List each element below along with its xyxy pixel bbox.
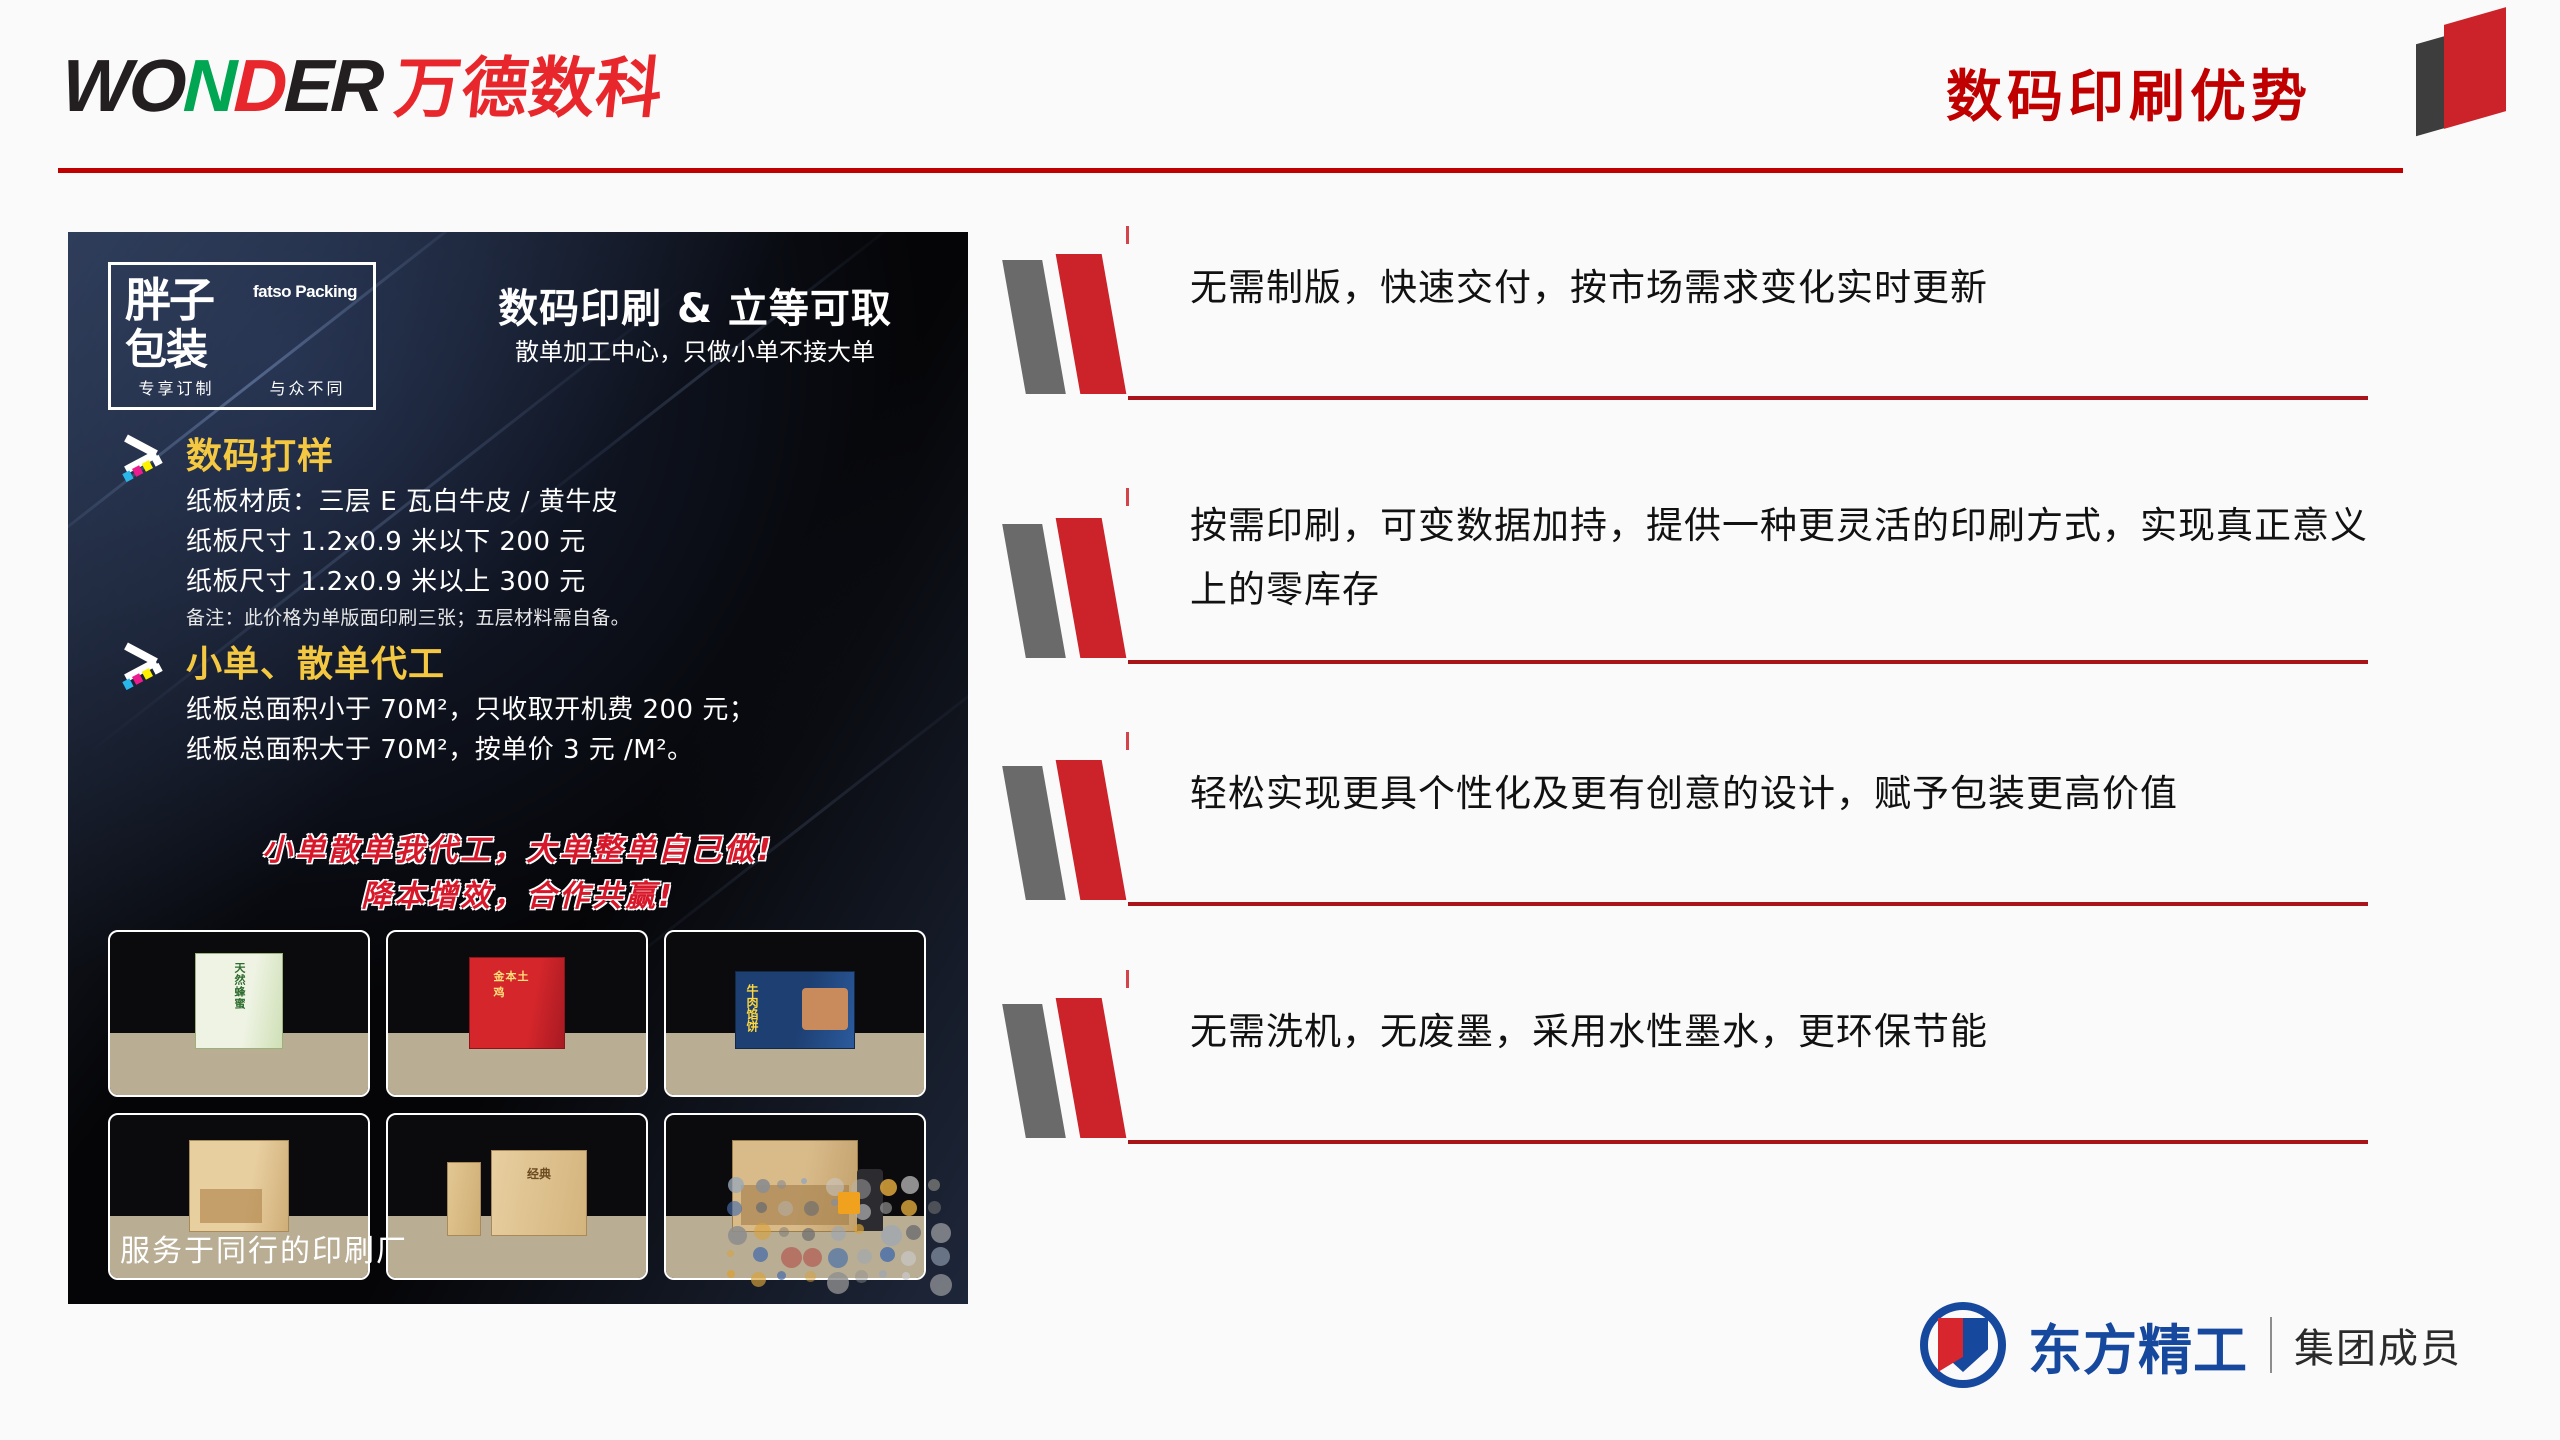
section-header: 小单、散单代工 (120, 636, 940, 686)
bullet-red-bar (1056, 254, 1127, 394)
poster-headline: 数码印刷 & 立等可取 (460, 276, 930, 334)
company-name: 东方精工 (2028, 1306, 2248, 1385)
advantage-underline (1128, 396, 2368, 400)
product-photo-beef-dumpling-carton: 牛肉馅饼 (664, 930, 926, 1097)
package-shape-large: 经典 (491, 1150, 587, 1236)
halftone-dot (881, 1225, 902, 1246)
halftone-dot (801, 1178, 807, 1184)
halftone-dot (777, 1271, 786, 1280)
footer-divider (2270, 1317, 2272, 1373)
wordmark-post: ER (283, 44, 383, 127)
package-shape (189, 1140, 289, 1232)
wordmark-pre: WO (61, 44, 185, 127)
product-photo-honey-gift-box: 天然蜂蜜 (108, 930, 370, 1097)
halftone-dot (756, 1179, 770, 1193)
halftone-dot (854, 1224, 864, 1234)
section-line: 纸板尺寸 1.2x0.9 米以下 200 元 (186, 522, 940, 562)
package-shape: 牛肉馅饼 (735, 971, 855, 1049)
halftone-dot (727, 1201, 742, 1216)
chevron-arrow-icon (120, 428, 186, 478)
advantage-underline (1128, 660, 2368, 664)
tick-mark (1126, 488, 1129, 506)
halftone-dot (802, 1228, 815, 1241)
wonder-wordmark: WONDER (61, 48, 383, 124)
package-art (200, 1189, 262, 1223)
package-group: 经典 (388, 1150, 646, 1236)
fatso-logo-english: fatso Packing (253, 283, 357, 300)
bullet-gray-bar (1002, 260, 1066, 394)
halftone-dot (779, 1227, 789, 1237)
halftone-dot (777, 1180, 786, 1189)
halftone-dot (831, 1199, 838, 1206)
bullet-marker-icon (1010, 250, 1180, 400)
fatso-packing-logo: 胖子 包装 fatso Packing 专享订制 与众不同 (108, 262, 376, 410)
advantage-item-1: 无需制版，快速交付，按市场需求变化实时更新 (1010, 250, 2490, 488)
section-line: 纸板尺寸 1.2x0.9 米以上 300 元 (186, 562, 940, 602)
advantage-underline (1128, 1140, 2368, 1144)
advantage-text: 按需印刷，可变数据加持，提供一种更灵活的印刷方式，实现真正意义上的零库存 (1190, 494, 2390, 622)
halftone-accent-square (838, 1192, 860, 1214)
wordmark-green-letter: N (182, 44, 235, 127)
advantage-text: 轻松实现更具个性化及更有创意的设计，赋予包装更高价值 (1190, 762, 2390, 826)
promo-poster-image: 胖子 包装 fatso Packing 专享订制 与众不同 数码印刷 & 立等可… (68, 232, 968, 1304)
halftone-dot (928, 1179, 940, 1191)
section-title: 小单、散单代工 (186, 635, 445, 687)
section-line: 纸板总面积大于 70M²，按单价 3 元 /M²。 (186, 730, 940, 770)
halftone-dot (831, 1226, 846, 1241)
halftone-dot (728, 1177, 744, 1193)
halftone-dot (753, 1247, 768, 1262)
section-line: 纸板总面积小于 70M²，只收取开机费 200 元； (186, 690, 940, 730)
halftone-dot (727, 1250, 734, 1257)
poster-footer-text: 服务于同行的印刷厂 (120, 1226, 408, 1270)
tick-mark (1126, 732, 1129, 750)
package-shape: 天然蜂蜜 (195, 953, 283, 1049)
corner-red-shape (2444, 7, 2506, 129)
halftone-dot (855, 1270, 868, 1283)
bullet-gray-bar (1002, 766, 1066, 900)
advantage-text: 无需洗机，无废墨，采用水性墨水，更环保节能 (1190, 1000, 2390, 1064)
page-title: 数码印刷优势 (1946, 52, 2312, 133)
fatso-logo-taglines: 专享订制 与众不同 (111, 375, 373, 399)
advantage-text: 无需制版，快速交付，按市场需求变化实时更新 (1190, 256, 2390, 320)
package-art (802, 988, 848, 1030)
poster-section-small-batch-oem: 小单、散单代工 纸板总面积小于 70M²，只收取开机费 200 元； 纸板总面积… (120, 636, 940, 770)
package-shape: 金本土鸡 (469, 957, 565, 1049)
section-header: 数码打样 (120, 428, 940, 478)
halftone-dot (778, 1201, 793, 1216)
header-divider (58, 168, 2403, 173)
product-photo-red-chicken-gift-box: 金本土鸡 (386, 930, 648, 1097)
halftone-dot (880, 1179, 897, 1196)
corner-decoration-icon (2406, 4, 2524, 132)
bullet-marker-icon (1010, 514, 1180, 664)
section-note: 备注：此价格为单版面印刷三张；五层材料需自备。 (186, 602, 940, 634)
bullet-marker-icon (1010, 756, 1180, 906)
poster-section-digital-proofing: 数码打样 纸板材质：三层 E 瓦白牛皮 / 黄牛皮 纸板尺寸 1.2x0.9 米… (120, 428, 940, 634)
package-label: 天然蜂蜜 (231, 962, 247, 1010)
product-photo-classic-kraft-set: 经典 (386, 1113, 648, 1280)
halftone-dot (880, 1202, 892, 1214)
halftone-dot (727, 1270, 735, 1278)
package-label: 牛肉馅饼 (744, 984, 761, 1032)
dongfang-emblem-icon (1920, 1302, 2006, 1388)
fatso-logo-text: 胖子 包装 fatso Packing (125, 277, 363, 371)
halftone-dot (756, 1202, 767, 1213)
fatso-tag-right: 与众不同 (269, 375, 345, 399)
advantage-item-4: 无需洗机，无废墨，采用水性墨水，更环保节能 (1010, 994, 2490, 1232)
slide-header: WONDER 万德数科 数码印刷优势 (0, 0, 2560, 190)
advantage-item-2: 按需印刷，可变数据加持，提供一种更灵活的印刷方式，实现真正意义上的零库存 (1010, 488, 2490, 756)
section-title: 数码打样 (186, 427, 334, 479)
wonder-logo: WONDER 万德数科 (62, 48, 663, 124)
halftone-dot (930, 1274, 952, 1296)
halftone-dot (880, 1247, 895, 1262)
chevron-arrow-icon (120, 636, 186, 686)
section-line: 纸板材质：三层 E 瓦白牛皮 / 黄牛皮 (186, 482, 940, 522)
halftone-dot (827, 1272, 849, 1294)
section-body: 纸板总面积小于 70M²，只收取开机费 200 元； 纸板总面积大于 70M²，… (186, 690, 940, 770)
package-label: 经典 (527, 1165, 551, 1182)
package-shape-small (447, 1162, 481, 1236)
halftone-dot (901, 1251, 916, 1266)
halftone-dot (906, 1225, 921, 1240)
group-member-label: 集团成员 (2294, 1316, 2462, 1374)
slogan-line-2: 降本增效，合作共赢! (68, 874, 968, 920)
halftone-dot (804, 1201, 819, 1216)
halftone-dot (805, 1271, 816, 1282)
bullet-red-bar (1056, 518, 1127, 658)
halftone-dot (857, 1249, 872, 1264)
advantage-underline (1128, 902, 2368, 906)
poster-subheadline: 散单加工中心，只做小单不接大单 (460, 332, 930, 367)
section-body: 纸板材质：三层 E 瓦白牛皮 / 黄牛皮 纸板尺寸 1.2x0.9 米以下 20… (186, 482, 940, 634)
fatso-logo-line2: 包装 (125, 329, 363, 371)
fatso-tag-left: 专享订制 (138, 375, 214, 399)
bullet-gray-bar (1002, 1004, 1066, 1138)
halftone-dot (902, 1272, 910, 1280)
poster-slogan: 小单散单我代工，大单整单自己做! 降本增效，合作共赢! (68, 828, 968, 920)
halftone-dot (901, 1176, 919, 1194)
halftone-dot (901, 1200, 917, 1216)
bullet-red-bar (1056, 760, 1127, 900)
advantages-list: 无需制版，快速交付，按市场需求变化实时更新 按需印刷，可变数据加持，提供一种更灵… (1010, 250, 2490, 1232)
slogan-line-1: 小单散单我代工，大单整单自己做! (68, 828, 968, 874)
halftone-dot (931, 1223, 951, 1243)
halftone-dots-decoration (726, 1174, 956, 1294)
bullet-red-bar (1056, 998, 1127, 1138)
tick-mark (1126, 970, 1129, 988)
tick-mark (1126, 226, 1129, 244)
advantage-item-3: 轻松实现更具个性化及更有创意的设计，赋予包装更高价值 (1010, 756, 2490, 994)
halftone-dot (754, 1223, 771, 1240)
group-member-logo: 东方精工 集团成员 (1920, 1302, 2462, 1388)
halftone-dot (781, 1247, 802, 1268)
halftone-dot (879, 1270, 887, 1278)
halftone-dot (728, 1226, 747, 1245)
bullet-gray-bar (1002, 524, 1066, 658)
wordmark-red-letter: D (232, 44, 285, 127)
wonder-chinese-name: 万德数科 (391, 51, 667, 127)
package-label: 金本土鸡 (494, 968, 541, 1000)
bullet-marker-icon (1010, 994, 1180, 1144)
halftone-dot (803, 1248, 822, 1267)
halftone-dot (828, 1248, 848, 1268)
halftone-dot (928, 1201, 941, 1214)
halftone-dot (751, 1272, 766, 1287)
halftone-dot (931, 1247, 950, 1266)
